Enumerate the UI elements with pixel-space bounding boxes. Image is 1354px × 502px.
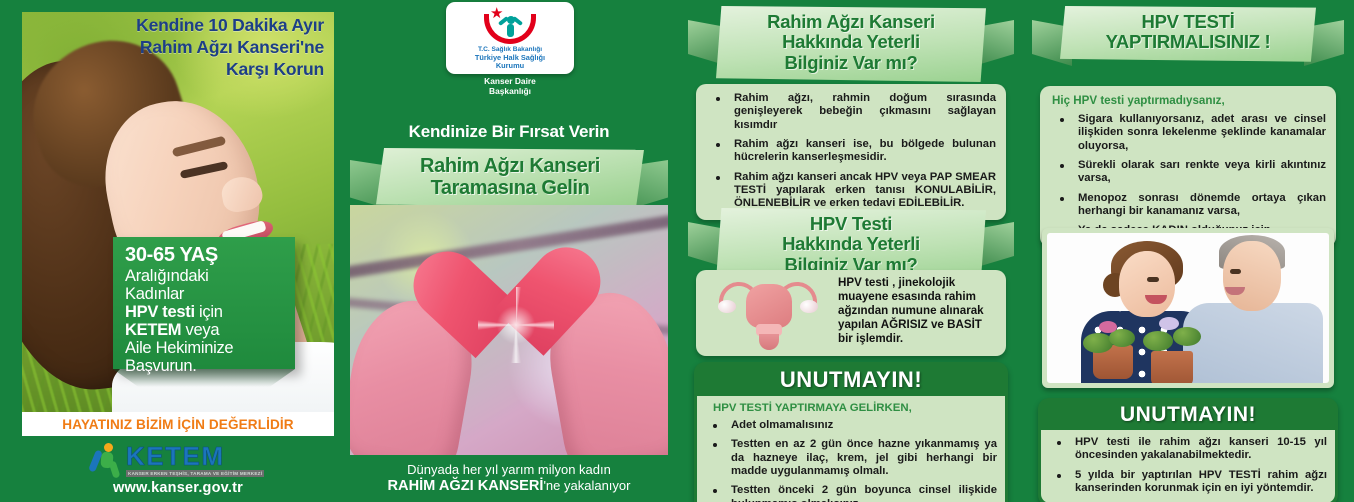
age-range-line7: Başvurun. xyxy=(125,357,285,375)
age-range-value: 30-65 YAŞ xyxy=(125,245,285,267)
paper-heart-icon xyxy=(440,251,576,376)
list-item: Rahim ağzı kanseri ise, bu bölgede bulun… xyxy=(704,138,996,165)
hpv-risk-factors-card: Hiç HPV testi yaptırmadıysanız, Sigara k… xyxy=(1040,86,1336,247)
hpv-risk-bullet-list: Sigara kullanıyorsanız, adet arası ve ci… xyxy=(1048,113,1326,238)
man-shirt xyxy=(1183,303,1323,383)
age-range-line3: Kadınlar xyxy=(125,285,285,303)
ketem-logo: KETEM KANSER ERKEN TEŞHİS, TARAMA VE EĞİ… xyxy=(92,443,264,477)
header2-line2: Hakkında Yeterli xyxy=(724,234,978,254)
age-range-line2: Aralığındaki xyxy=(125,267,285,285)
leaf xyxy=(1143,331,1173,351)
list-item: 5 yılda bir yaptırılan HPV TESTİ rahim a… xyxy=(1045,469,1327,496)
ministry-emblem-icon: ★ xyxy=(478,6,542,46)
elderly-couple-with-flowers-photo xyxy=(1042,228,1334,388)
unutmayin-content: HPV TESTİ YAPTIRMAYA GELİRKEN, Adet olma… xyxy=(697,396,1005,502)
ribbon-plate: Rahim Ağzı Kanseri Hakkında Yeterli Bilg… xyxy=(716,6,986,82)
list-item: Sürekli olarak sarı renkte veya kirli ak… xyxy=(1048,159,1326,186)
panel4-header-line2: YAPTIRMALISINIZ ! xyxy=(1068,32,1308,52)
unutmayin-title: UNUTMAYIN! xyxy=(1041,401,1335,430)
ketem-subtitle: KANSER ERKEN TEŞHİS, TARAMA VE EĞİTİM ME… xyxy=(126,470,264,477)
header1-line3: Bilginiz Var mı? xyxy=(724,53,978,73)
photo-inner xyxy=(1047,233,1329,383)
list-item: Adet olmamalısınız xyxy=(701,419,997,432)
panel4-intro: Hiç HPV testi yaptırmadıysanız, xyxy=(1052,94,1326,107)
panel-center-screening-invite: ★ T.C. Sağlık Bakanlığı Türkiye Halk Sağ… xyxy=(338,0,680,502)
ketem-figure-icon xyxy=(92,443,122,477)
hands-holding-paper-heart-photo xyxy=(350,205,668,455)
flower xyxy=(1159,317,1179,330)
panel-right-hpv-test-call: HPV TESTİ YAPTIRMALISINIZ ! Hiç HPV test… xyxy=(1022,0,1354,502)
ketem-logo-block: KETEM KANSER ERKEN TEŞHİS, TARAMA VE EĞİ… xyxy=(22,440,334,502)
age-range-line6: Aile Hekiminize xyxy=(125,339,285,357)
ribbon-plate: HPV TESTİ YAPTIRMALISINIZ ! xyxy=(1060,6,1316,62)
unutmayin-bullet-list: Adet olmamalısınız Testten en az 2 gün ö… xyxy=(701,419,997,502)
panel-left-awareness: Kendine 10 Dakika Ayır Rahim Ağzı Kanser… xyxy=(0,0,338,502)
hpv-test-description-text: HPV testi , jinekolojik muayene esasında… xyxy=(838,276,998,346)
ketem-website-url[interactable]: www.kanser.gov.tr xyxy=(22,480,334,496)
cervical-cancer-hpv-brochure: Kendine 10 Dakika Ayır Rahim Ağzı Kanser… xyxy=(0,0,1354,502)
leaf xyxy=(1173,327,1201,346)
hpv-test-description-card: HPV testi , jinekolojik muayene esasında… xyxy=(696,270,1006,356)
header1-line1: Rahim Ağzı Kanseri xyxy=(724,12,978,32)
orange-slogan-banner: HAYATINIZ BİZİM İÇİN DEĞERLİDİR xyxy=(22,412,334,436)
man-eye xyxy=(1230,269,1241,274)
header1-line2: Hakkında Yeterli xyxy=(724,32,978,52)
unutmayin-bullet-list: HPV testi ile rahim ağzı kanseri 10-15 y… xyxy=(1045,436,1327,495)
department-name: Kanser Daire Başkanlığı xyxy=(446,76,574,96)
woman-eye xyxy=(1147,277,1159,282)
ministry-logo-line3: Kurumu xyxy=(496,62,524,71)
unutmayin-content: HPV testi ile rahim ağzı kanseri 10-15 y… xyxy=(1041,430,1335,502)
woman-face xyxy=(1119,251,1175,317)
cervical-cancer-facts-card: Rahim ağzı, rahmin doğum sırasında geniş… xyxy=(696,84,1006,220)
panel1-headline-line1: Kendine 10 Dakika Ayır xyxy=(74,14,324,36)
flower-pot-right xyxy=(1151,351,1193,383)
panel1-headline-line3: Karşı Korun xyxy=(74,58,324,80)
panel2-footer: Dünyada her yıl yarım milyon kadın RAHİM… xyxy=(338,462,680,496)
unutmayin-box-panel4: UNUTMAYIN! HPV testi ile rahim ağzı kans… xyxy=(1038,398,1338,502)
list-item: Rahim ağzı kanseri ancak HPV veya PAP SM… xyxy=(704,171,996,211)
age-range-ketem-bold: KETEM xyxy=(125,321,181,339)
panel1-headline: Kendine 10 Dakika Ayır Rahim Ağzı Kanser… xyxy=(74,14,324,80)
cervical-cancer-bullet-list: Rahim ağzı, rahmin doğum sırasında geniş… xyxy=(704,92,996,211)
age-range-hpv-bold: HPV testi xyxy=(125,303,195,321)
age-range-callout-box: 30-65 YAŞ Aralığındaki Kadınlar HPV test… xyxy=(113,237,295,369)
ribbon-line2: Taramasına Gelin xyxy=(431,178,590,200)
flower xyxy=(1099,321,1117,333)
uterus-anatomy-icon xyxy=(704,276,832,350)
ribbon-line1: Rahim Ağzı Kanseri xyxy=(420,156,600,178)
panel2-kicker: Kendinize Bir Fırsat Verin xyxy=(338,122,680,142)
department-name-line2: Başkanlığı xyxy=(446,86,574,96)
ministry-of-health-logo: ★ T.C. Sağlık Bakanlığı Türkiye Halk Sağ… xyxy=(446,2,574,74)
list-item: Sigara kullanıyorsanız, adet arası ve ci… xyxy=(1048,113,1326,153)
list-item: Rahim ağzı, rahmin doğum sırasında geniş… xyxy=(704,92,996,132)
unutmayin-box-panel3: UNUTMAYIN! HPV TESTİ YAPTIRMAYA GELİRKEN… xyxy=(694,362,1008,502)
panel2-footer-line1: Dünyada her yıl yarım milyon kadın xyxy=(338,462,680,478)
list-item: Menopoz sonrası dönemde ortaya çıkan her… xyxy=(1048,192,1326,219)
department-name-line1: Kanser Daire xyxy=(446,76,574,86)
age-range-line5-rest: veya xyxy=(181,321,219,339)
ketem-wordmark: KETEM xyxy=(126,443,264,469)
ketem-logo-text: KETEM KANSER ERKEN TEŞHİS, TARAMA VE EĞİ… xyxy=(126,443,264,477)
header-ribbon-cervical-cancer: Rahim Ağzı Kanseri Hakkında Yeterli Bilg… xyxy=(694,6,1008,82)
panel1-headline-line2: Rahim Ağzı Kanseri'ne xyxy=(74,36,324,58)
man-face xyxy=(1223,241,1281,311)
orange-slogan-text: HAYATINIZ BİZİM İÇİN DEĞERLİDİR xyxy=(62,417,293,432)
ribbon-plate: Rahim Ağzı Kanseri Taramasına Gelin xyxy=(376,148,644,208)
panel-info-cervical-cancer: Rahim Ağzı Kanseri Hakkında Yeterli Bilg… xyxy=(680,0,1022,502)
header-ribbon-hpv-must-test: HPV TESTİ YAPTIRMALISINIZ ! xyxy=(1038,6,1338,62)
unutmayin-intro: HPV TESTİ YAPTIRMAYA GELİRKEN, xyxy=(713,402,997,414)
list-item: HPV testi ile rahim ağzı kanseri 10-15 y… xyxy=(1045,436,1327,463)
list-item: Testten önceki 2 gün boyunca cinsel iliş… xyxy=(701,484,997,502)
panel4-header-line1: HPV TESTİ xyxy=(1068,12,1308,32)
panel2-footer-line2-rest: 'ne yakalanıyor xyxy=(543,478,630,493)
age-range-line4-rest: için xyxy=(195,303,223,321)
panel2-footer-line2-bold: RAHİM AĞZI KANSERİ xyxy=(388,478,544,494)
unutmayin-title: UNUTMAYIN! xyxy=(697,365,1005,396)
list-item: Testten en az 2 gün önce hazne yıkanmamı… xyxy=(701,438,997,478)
header2-line1: HPV Testi xyxy=(724,214,978,234)
